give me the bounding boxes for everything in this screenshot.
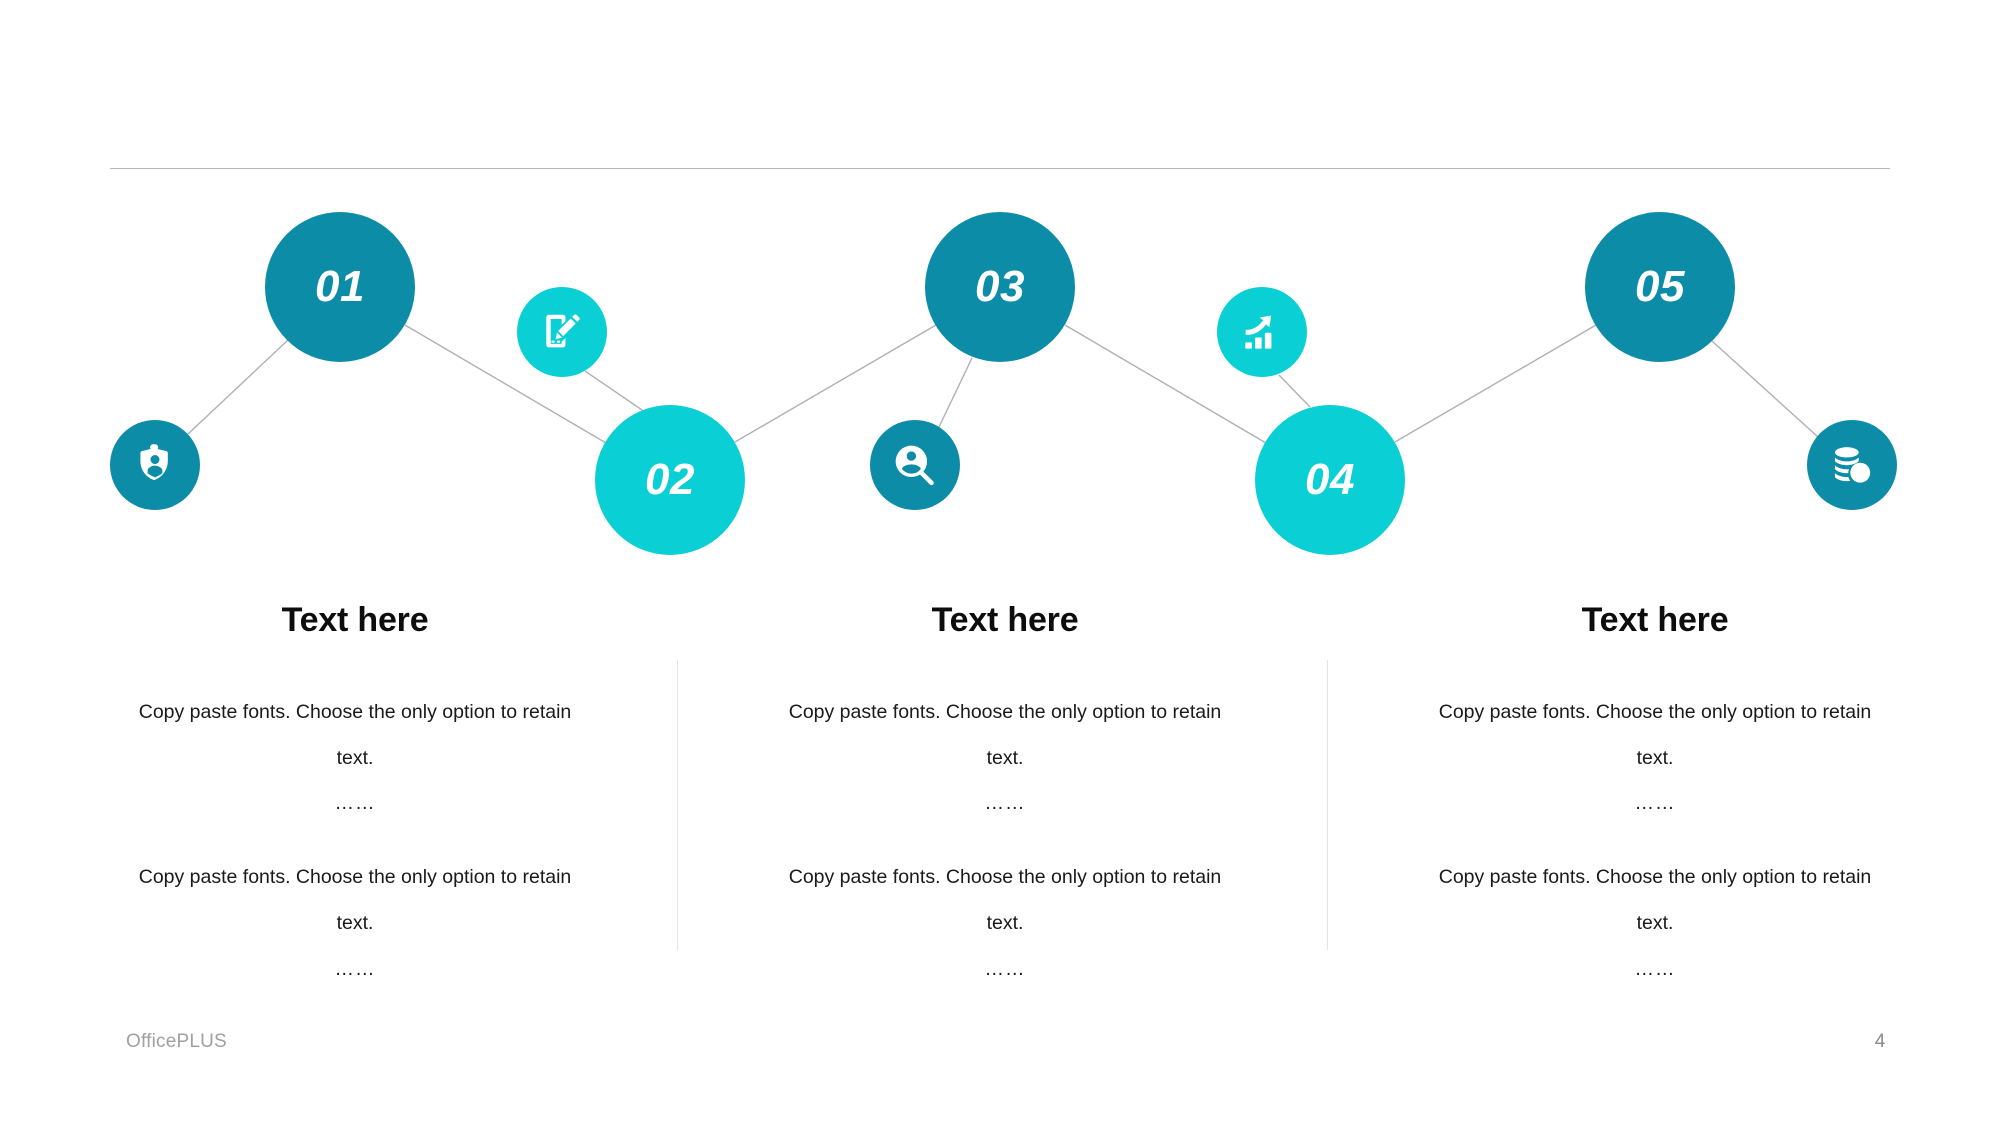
icon-node-1[interactable] — [110, 420, 200, 510]
icon-node-4[interactable] — [1217, 287, 1307, 377]
column-heading: Text here — [1375, 600, 1935, 641]
column-paragraph: Copy paste fonts. Choose the only option… — [1375, 690, 1935, 827]
icon-node-5[interactable] — [1807, 420, 1897, 510]
shield-person-icon — [132, 442, 178, 488]
coin-stack-icon — [1829, 442, 1875, 488]
growth-chart-icon — [1239, 309, 1285, 355]
text-column-1: Text here Copy paste fonts. Choose the o… — [75, 600, 635, 993]
column-ellipsis: …… — [780, 781, 1230, 827]
column-ellipsis: …… — [1430, 947, 1880, 993]
step-number-label: 03 — [975, 265, 1025, 309]
text-column-3: Text here Copy paste fonts. Choose the o… — [1375, 600, 1935, 993]
icon-node-3[interactable] — [870, 420, 960, 510]
icon-node-2[interactable] — [517, 287, 607, 377]
step-number-label: 04 — [1305, 458, 1355, 502]
column-paragraph: Copy paste fonts. Choose the only option… — [725, 690, 1285, 827]
footer-page-number: 4 — [1860, 1031, 1900, 1053]
column-ellipsis: …… — [1430, 781, 1880, 827]
step-number-label: 01 — [315, 265, 365, 309]
column-ellipsis: …… — [130, 947, 580, 993]
column-paragraph-text: Copy paste fonts. Choose the only option… — [139, 866, 572, 934]
header-divider — [110, 168, 1890, 169]
step-node-01[interactable]: 01 — [265, 212, 415, 362]
text-column-2: Text here Copy paste fonts. Choose the o… — [725, 600, 1285, 993]
mobile-edit-icon — [539, 309, 585, 355]
footer-brand: OfficePLUS — [126, 1031, 227, 1053]
column-paragraph-text: Copy paste fonts. Choose the only option… — [139, 701, 572, 769]
step-number-label: 05 — [1635, 265, 1685, 309]
column-paragraph-text: Copy paste fonts. Choose the only option… — [1439, 701, 1872, 769]
slide-canvas: 01 02 03 04 05 — [0, 0, 2000, 1125]
step-node-04[interactable]: 04 — [1255, 405, 1405, 555]
column-ellipsis: …… — [130, 781, 580, 827]
column-paragraph: Copy paste fonts. Choose the only option… — [1375, 855, 1935, 992]
column-heading: Text here — [75, 600, 635, 641]
step-node-05[interactable]: 05 — [1585, 212, 1735, 362]
column-ellipsis: …… — [780, 947, 1230, 993]
step-node-02[interactable]: 02 — [595, 405, 745, 555]
column-heading: Text here — [725, 600, 1285, 641]
text-columns: Text here Copy paste fonts. Choose the o… — [0, 600, 2000, 1000]
column-paragraph-text: Copy paste fonts. Choose the only option… — [1439, 866, 1872, 934]
step-node-03[interactable]: 03 — [925, 212, 1075, 362]
column-paragraph: Copy paste fonts. Choose the only option… — [725, 855, 1285, 992]
column-paragraph-text: Copy paste fonts. Choose the only option… — [789, 866, 1222, 934]
column-paragraph: Copy paste fonts. Choose the only option… — [75, 855, 635, 992]
user-search-icon — [892, 442, 938, 488]
column-paragraph: Copy paste fonts. Choose the only option… — [75, 690, 635, 827]
step-number-label: 02 — [645, 458, 695, 502]
column-paragraph-text: Copy paste fonts. Choose the only option… — [789, 701, 1222, 769]
